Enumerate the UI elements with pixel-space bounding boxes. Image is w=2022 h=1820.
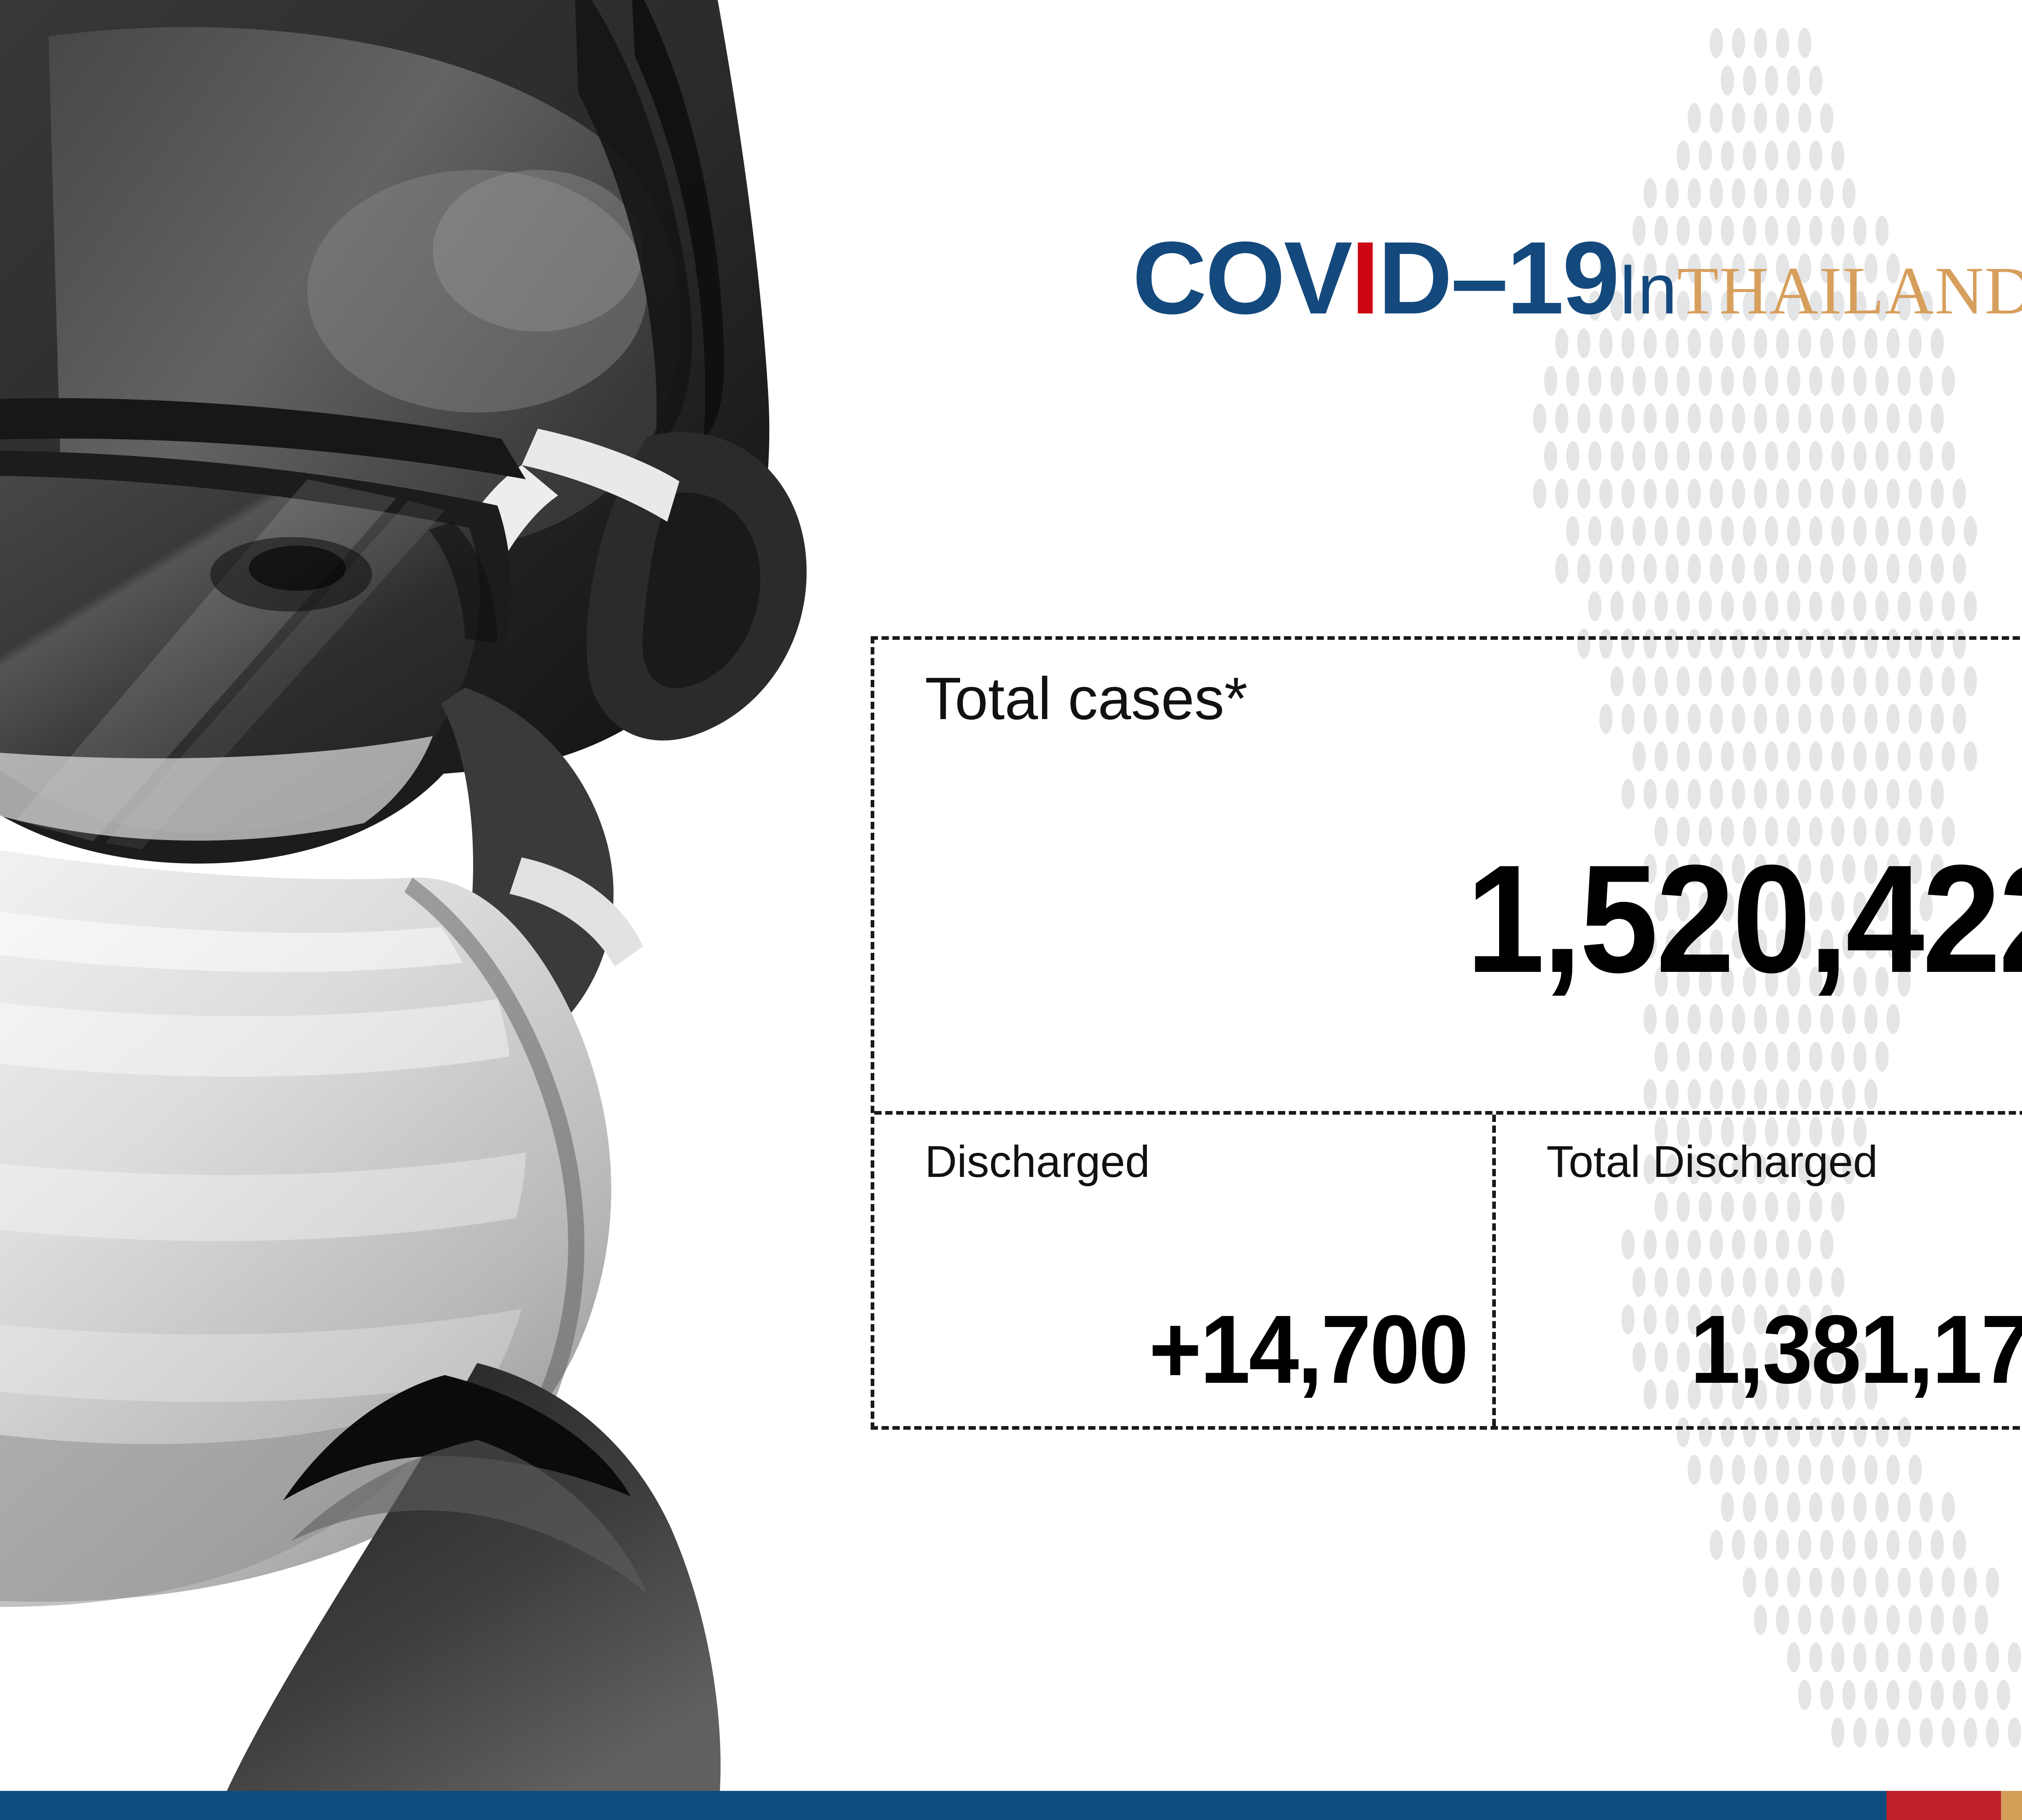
total-cases-value: 1,520,422	[971, 842, 2022, 996]
bottom-bar-red-segment	[1887, 1791, 2001, 1820]
title-covid-pre: COV	[1132, 220, 1351, 336]
title-thailand: THAILAND	[1677, 253, 2022, 328]
total-cases-row: Total cases* 1,520,422	[874, 640, 2022, 1115]
bottom-bar-gold-segment	[2001, 1791, 2022, 1820]
total-discharged-cell: Total Discharged 1,381,176	[1496, 1115, 2022, 1426]
discharged-cell: Discharged +14,700	[874, 1115, 1496, 1426]
source-credit: Source: Public Health Ministry's Emergen…	[1213, 1732, 2022, 1757]
infographic-canvas: th NATION GR UP THE NATION THAILAND	[0, 0, 2022, 1820]
stats-table: Total cases* 1,520,422 Discharged +14,70…	[871, 636, 2022, 1430]
discharged-row: Discharged +14,700 Total Discharged 1,38…	[874, 1115, 2022, 1426]
masked-person-photo	[0, 0, 938, 1792]
discharged-value: +14,700	[916, 1301, 1467, 1398]
page-title: COVID–19InTHAILANDupdate	[1132, 226, 2022, 332]
bottom-color-bar	[0, 1791, 2022, 1820]
title-covid: COVID–19	[1132, 220, 1618, 336]
title-covid-i: I	[1351, 220, 1378, 336]
discharged-label: Discharged	[925, 1140, 1150, 1184]
total-discharged-label: Total Discharged	[1546, 1140, 1878, 1184]
title-covid-post: D–19	[1378, 220, 1618, 336]
bottom-bar-blue-segment	[0, 1791, 1887, 1820]
total-discharged-value: 1,381,176	[1537, 1301, 2022, 1398]
total-cases-label: Total cases*	[925, 669, 1248, 729]
title-in: In	[1618, 250, 1677, 329]
